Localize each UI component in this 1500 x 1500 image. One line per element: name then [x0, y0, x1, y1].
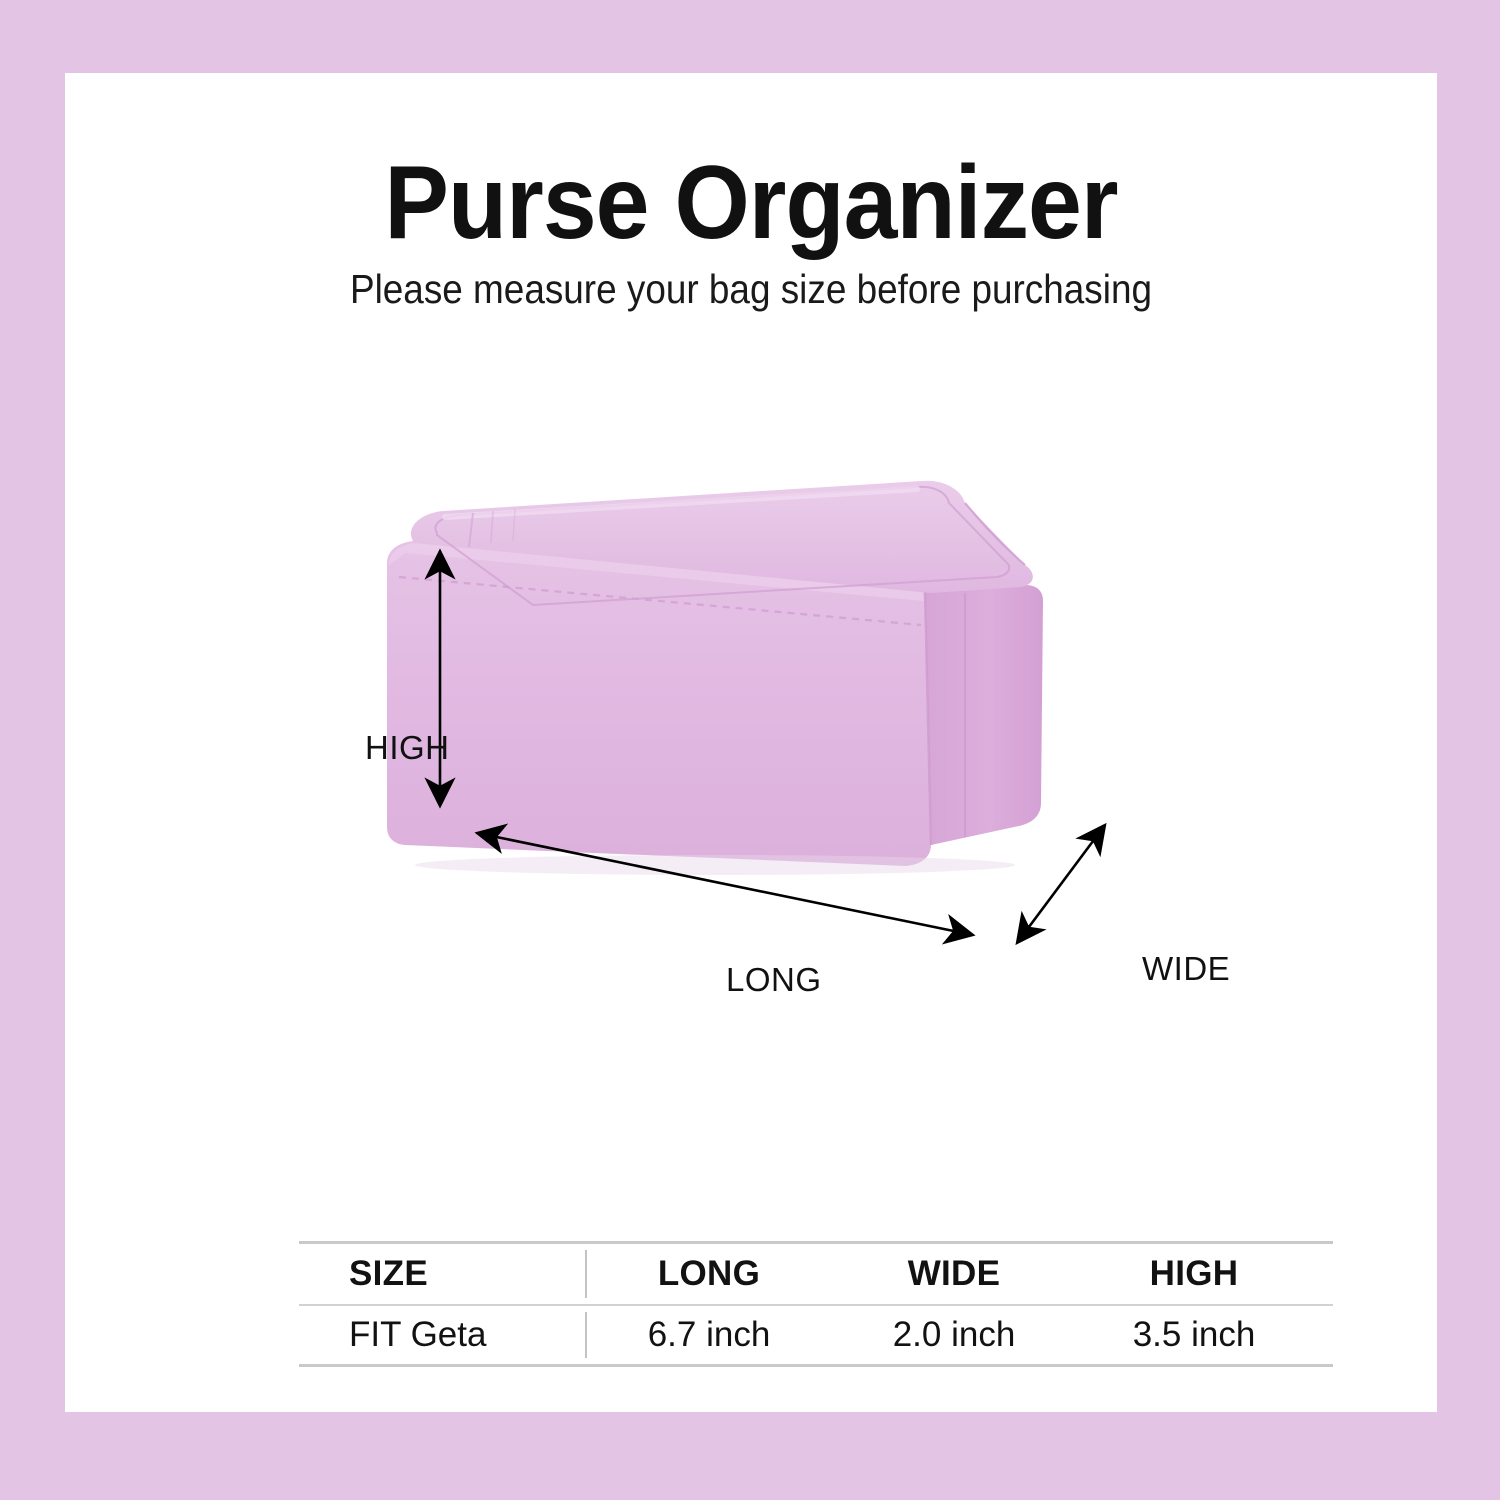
cell-size: FIT Geta [299, 1315, 584, 1355]
content-canvas: Purse Organizer Please measure your bag … [65, 73, 1437, 1412]
table-column-divider [585, 1250, 587, 1298]
column-header-wide: WIDE [834, 1254, 1074, 1294]
organizer-side-panel [925, 585, 1043, 845]
table-header-row: SIZE LONG WIDE HIGH [299, 1244, 1333, 1304]
column-header-size: SIZE [299, 1254, 584, 1294]
page-subtitle: Please measure your bag size before purc… [134, 269, 1369, 310]
infographic-page: Purse Organizer Please measure your bag … [0, 0, 1500, 1500]
table-bottom-rule [299, 1364, 1333, 1367]
purse-organizer-image [365, 473, 1145, 973]
column-header-high: HIGH [1074, 1254, 1314, 1294]
cell-long: 6.7 inch [584, 1315, 834, 1355]
size-chart-table: SIZE LONG WIDE HIGH FIT Geta 6.7 inch 2.… [299, 1241, 1333, 1367]
cell-high: 3.5 inch [1074, 1315, 1314, 1355]
page-title: Purse Organizer [113, 151, 1389, 255]
table-column-divider [585, 1312, 587, 1358]
wide-dimension-label: WIDE [1142, 952, 1230, 985]
column-header-long: LONG [584, 1254, 834, 1294]
long-dimension-label: LONG [726, 963, 822, 996]
table-row: FIT Geta 6.7 inch 2.0 inch 3.5 inch [299, 1306, 1333, 1364]
cell-wide: 2.0 inch [834, 1315, 1074, 1355]
high-dimension-label: HIGH [365, 731, 450, 764]
product-illustration [365, 473, 1145, 973]
